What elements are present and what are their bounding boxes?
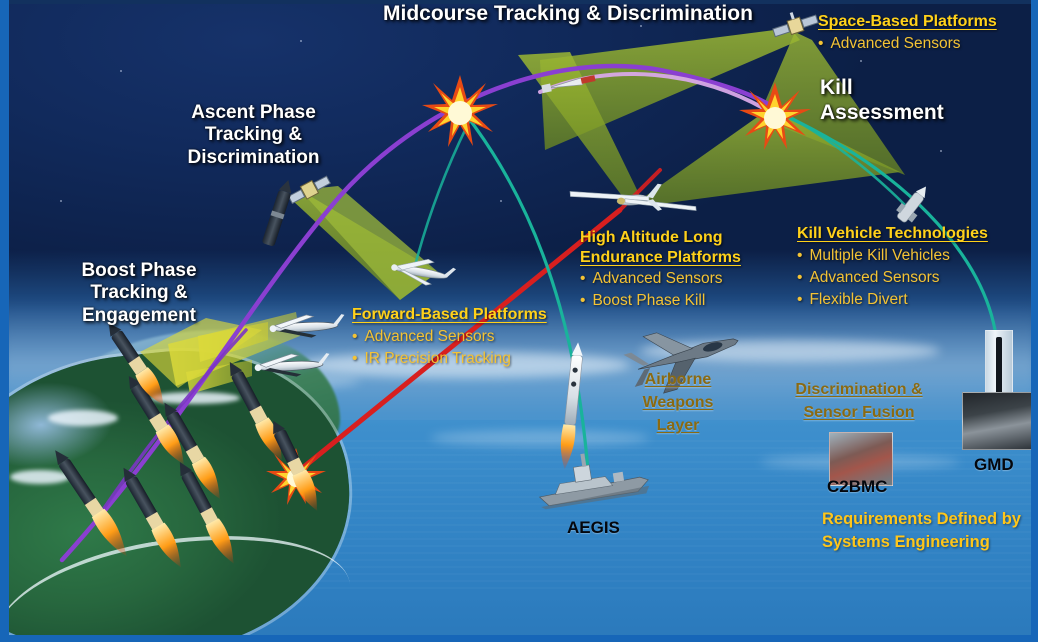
aegis-ship-icon — [534, 444, 650, 510]
sensor-cone-ascent-2 — [300, 186, 438, 300]
callout-bullets: Advanced Sensors Boost Phase Kill — [580, 268, 741, 312]
label-boost-phase: Boost Phase Tracking & Engagement — [30, 260, 248, 327]
callout-bullet: Advanced Sensors — [580, 268, 741, 290]
callout-bullet: Boost Phase Kill — [580, 290, 741, 312]
label-midcourse-phase: Midcourse Tracking & Discrimination — [383, 2, 753, 27]
callout-heading-line1: High Altitude Long — [580, 228, 741, 248]
frame-bottom — [0, 635, 1038, 642]
missile-icon — [116, 463, 188, 571]
uav-icon — [254, 352, 331, 379]
callout-heading: Kill Vehicle Technologies — [797, 224, 988, 244]
callout-heading: Space-Based Platforms — [818, 12, 997, 32]
footer-requirements-text: Requirements Defined by Systems Engineer… — [822, 508, 1021, 554]
callout-forward-based-platforms: Forward-Based Platforms Advanced Sensors… — [352, 305, 547, 370]
label-kill-assessment: Kill Assessment — [820, 76, 970, 126]
callout-bullet: IR Precision Tracking — [352, 348, 547, 370]
callout-bullet: Advanced Sensors — [818, 33, 997, 55]
gmd-photo-icon — [962, 392, 1036, 450]
label-gmd: GMD — [974, 455, 1014, 475]
callout-bullet: Advanced Sensors — [352, 326, 547, 348]
frame-top — [0, 0, 1038, 4]
callout-high-altitude-long-endurance-platforms: High Altitude Long Endurance Platforms A… — [580, 228, 741, 312]
label-airborne-weapons-layer: Airborne Weapons Layer — [630, 368, 726, 438]
label-c2bmc: C2BMC — [827, 477, 887, 497]
callout-heading: Forward-Based Platforms — [352, 305, 547, 325]
missile-icon — [262, 178, 295, 247]
callout-kill-vehicle-technologies: Kill Vehicle Technologies Multiple Kill … — [797, 224, 988, 311]
callout-bullets: Multiple Kill Vehicles Advanced Sensors … — [797, 245, 988, 311]
missile-icon — [48, 445, 134, 561]
missile-defense-diagram: Midcourse Tracking & Discrimination Asce… — [0, 0, 1038, 642]
callout-bullet: Flexible Divert — [797, 289, 988, 311]
frame-right — [1031, 0, 1038, 642]
missile-icon — [223, 358, 290, 464]
missile-icon — [266, 417, 325, 514]
label-discrimination-sensor-fusion: Discrimination & Sensor Fusion — [779, 378, 939, 424]
interceptor-track-upper — [416, 120, 470, 262]
frame-left — [0, 0, 9, 642]
label-aegis: AEGIS — [567, 518, 620, 538]
callout-bullets: Advanced Sensors IR Precision Tracking — [352, 326, 547, 370]
callout-bullet: Advanced Sensors — [797, 267, 988, 289]
explosion-icon — [422, 75, 498, 147]
callout-space-based-platforms: Space-Based Platforms Advanced Sensors — [818, 12, 997, 55]
callout-bullet: Multiple Kill Vehicles — [797, 245, 988, 267]
callout-bullets: Advanced Sensors — [818, 33, 997, 55]
callout-heading-line2: Endurance Platforms — [580, 248, 741, 268]
label-ascent-phase: Ascent Phase Tracking & Discrimination — [146, 102, 361, 169]
